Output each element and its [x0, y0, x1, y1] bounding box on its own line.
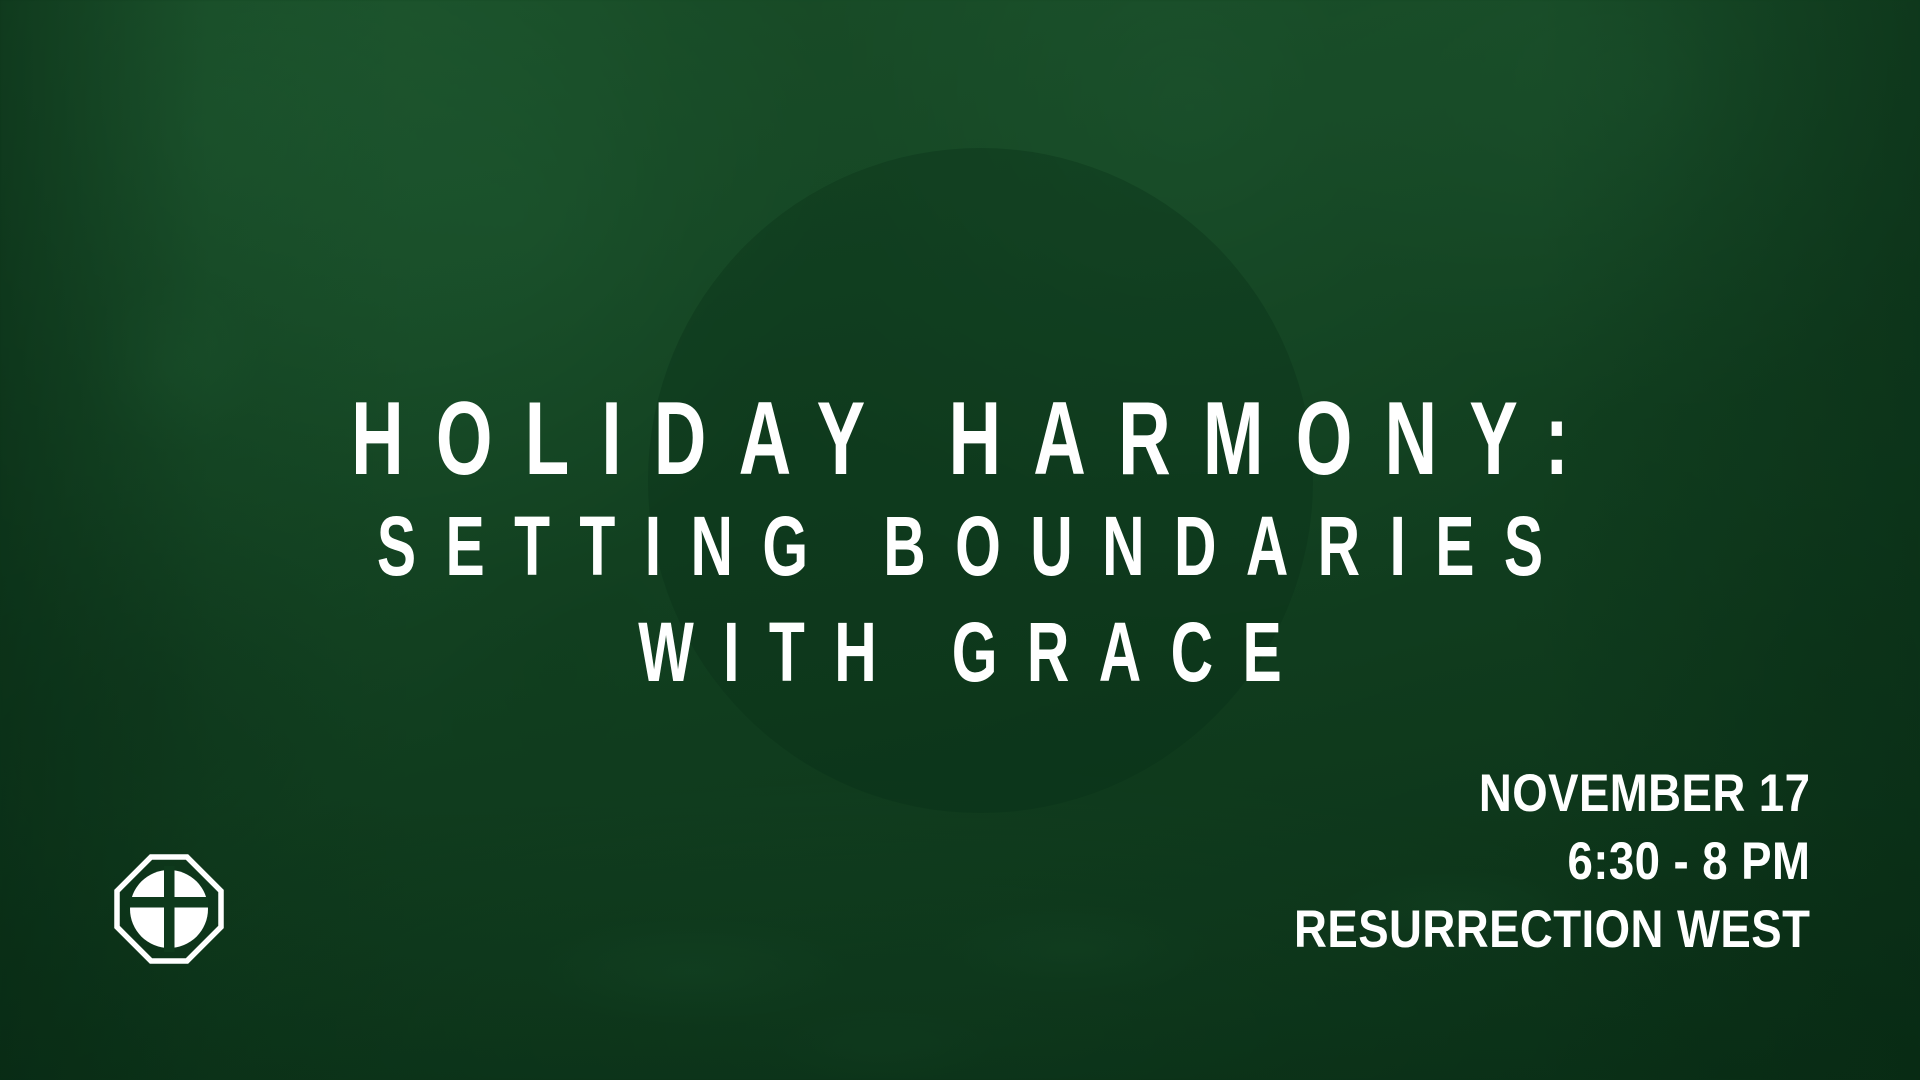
title-line-1: HOLIDAY HARMONY:: [288, 386, 1632, 492]
title-line-3: WITH GRACE: [288, 600, 1632, 704]
event-date: NOVEMBER 17: [1294, 760, 1810, 828]
event-details-block: NOVEMBER 17 6:30 - 8 PM RESURRECTION WES…: [1210, 760, 1810, 964]
church-logo: [113, 853, 225, 965]
octagon-cross-icon: [113, 853, 225, 965]
event-poster: HOLIDAY HARMONY: SETTING BOUNDARIES WITH…: [0, 0, 1920, 1080]
event-time: 6:30 - 8 PM: [1294, 828, 1810, 896]
headline-block: HOLIDAY HARMONY: SETTING BOUNDARIES WITH…: [0, 386, 1920, 704]
event-location: RESURRECTION WEST: [1294, 896, 1810, 964]
poster-content: HOLIDAY HARMONY: SETTING BOUNDARIES WITH…: [0, 0, 1920, 1080]
title-line-2: SETTING BOUNDARIES: [288, 492, 1632, 600]
